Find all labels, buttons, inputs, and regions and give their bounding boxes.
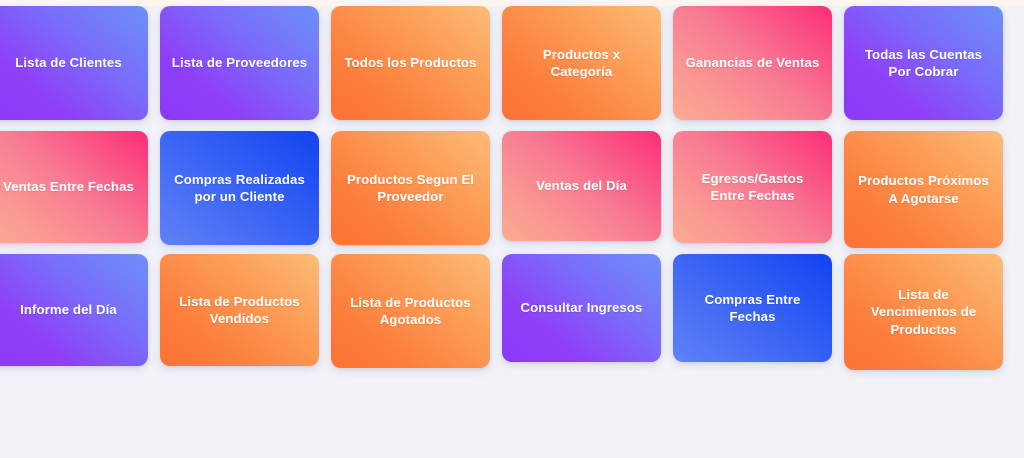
report-card-informe-del-dia[interactable]: Informe del Día <box>0 254 148 366</box>
report-card-egresos-gastos-entre-fechas[interactable]: Egresos/Gastos Entre Fechas <box>673 131 832 243</box>
report-card-consultar-ingresos[interactable]: Consultar Ingresos <box>502 254 661 362</box>
report-card-lista-productos-vendidos[interactable]: Lista de Productos Vendidos <box>160 254 319 366</box>
report-card-label: Lista de Productos Vendidos <box>170 293 309 328</box>
report-card-grid: Lista de ClientesLista de ProveedoresTod… <box>0 0 1024 458</box>
report-card-todos-los-productos[interactable]: Todos los Productos <box>331 6 490 120</box>
report-card-todas-las-cuentas-por-cobrar[interactable]: Todas las Cuentas Por Cobrar <box>844 6 1003 120</box>
report-card-label: Consultar Ingresos <box>512 299 651 316</box>
report-card-label: Lista de Vencimientos de Productos <box>854 286 993 338</box>
report-card-productos-x-categoria[interactable]: Productos x Categoría <box>502 6 661 120</box>
report-card-label: Compras Realizadas por un Cliente <box>170 171 309 206</box>
report-card-label: Lista de Clientes <box>0 54 138 71</box>
report-card-ventas-entre-fechas[interactable]: Ventas Entre Fechas <box>0 131 148 243</box>
report-card-label: Productos Próximos A Agotarse <box>854 172 993 207</box>
report-card-ganancias-de-ventas[interactable]: Ganancias de Ventas <box>673 6 832 120</box>
report-card-lista-de-clientes[interactable]: Lista de Clientes <box>0 6 148 120</box>
report-card-label: Todos los Productos <box>341 54 480 71</box>
report-card-ventas-del-dia[interactable]: Ventas del Día <box>502 131 661 241</box>
report-card-productos-proximos-agotarse[interactable]: Productos Próximos A Agotarse <box>844 131 1003 248</box>
report-card-compras-entre-fechas[interactable]: Compras Entre Fechas <box>673 254 832 362</box>
report-card-label: Ventas Entre Fechas <box>0 178 138 195</box>
report-card-lista-productos-agotados[interactable]: Lista de Productos Agotados <box>331 254 490 368</box>
report-card-label: Productos Segun El Proveedor <box>341 171 480 206</box>
report-card-compras-realizadas-cliente[interactable]: Compras Realizadas por un Cliente <box>160 131 319 245</box>
report-card-label: Lista de Productos Agotados <box>341 294 480 329</box>
report-card-label: Ganancias de Ventas <box>683 54 822 71</box>
report-card-label: Informe del Día <box>0 301 138 318</box>
report-card-label: Egresos/Gastos Entre Fechas <box>683 170 822 205</box>
report-card-lista-de-proveedores[interactable]: Lista de Proveedores <box>160 6 319 120</box>
report-card-label: Lista de Proveedores <box>170 54 309 71</box>
report-card-label: Todas las Cuentas Por Cobrar <box>854 46 993 81</box>
report-card-label: Ventas del Día <box>512 177 651 194</box>
report-card-lista-vencimientos-productos[interactable]: Lista de Vencimientos de Productos <box>844 254 1003 370</box>
report-card-label: Productos x Categoría <box>512 46 651 81</box>
report-card-label: Compras Entre Fechas <box>683 291 822 326</box>
report-card-productos-segun-proveedor[interactable]: Productos Segun El Proveedor <box>331 131 490 245</box>
